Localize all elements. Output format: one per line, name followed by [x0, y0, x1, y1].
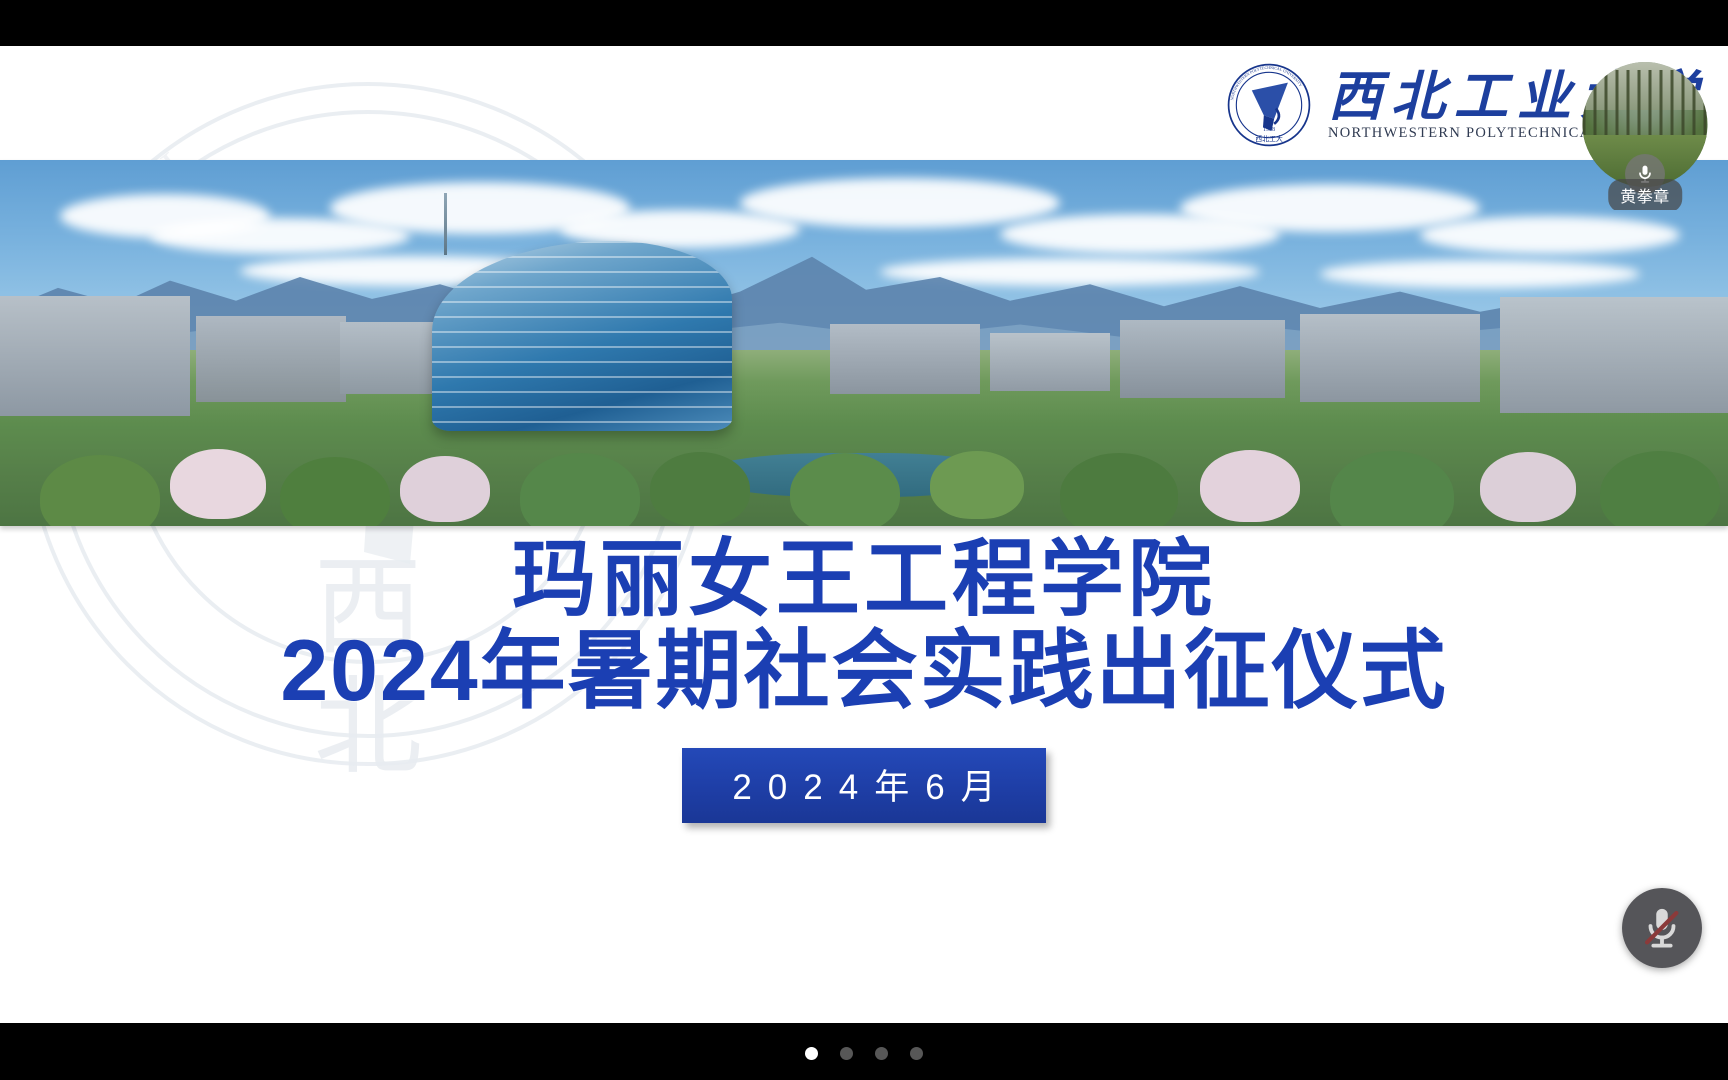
- blossom-tree: [1200, 450, 1300, 522]
- page-dot-4[interactable]: [910, 1047, 923, 1060]
- nwpu-seal-icon: 1938 西北工大 NORTHWESTERN POLYTECHNICAL UNI…: [1226, 62, 1312, 148]
- campus-building: [0, 296, 190, 416]
- date-badge: 2024年6月: [682, 748, 1045, 823]
- date-badge-container: 2024年6月: [0, 748, 1728, 823]
- campus-building: [990, 333, 1110, 391]
- blossom-tree: [400, 456, 490, 522]
- avatar-trees: [1583, 70, 1708, 145]
- campus-building: [1500, 297, 1728, 413]
- slide-header: 1938 西北工大 NORTHWESTERN POLYTECHNICAL UNI…: [0, 46, 1728, 160]
- shared-slide: 西 北 POLYTECH NON: [0, 46, 1728, 1023]
- slide-title-area: 玛丽女王工程学院 2024年暑期社会实践出征仪式 2024年6月: [0, 526, 1728, 823]
- mute-toggle-button[interactable]: [1622, 888, 1702, 968]
- svg-text:1938: 1938: [1263, 127, 1275, 133]
- participant-name-label: 黄拳章: [1608, 179, 1682, 210]
- campus-panorama-image: [0, 160, 1728, 526]
- campus-building: [196, 316, 346, 402]
- svg-text:西北工大: 西北工大: [1255, 134, 1283, 143]
- blossom-tree: [170, 449, 266, 519]
- page-dot-1[interactable]: [805, 1047, 818, 1060]
- meeting-screen: 西 北 POLYTECH NON: [0, 0, 1728, 1080]
- page-title-line-2: 2024年暑期社会实践出征仪式: [0, 625, 1728, 718]
- glass-landmark-building: [432, 241, 732, 431]
- page-dot-3[interactable]: [875, 1047, 888, 1060]
- microphone-muted-icon: [1639, 905, 1685, 951]
- tree: [930, 451, 1024, 519]
- tree: [790, 453, 900, 526]
- cloud: [740, 178, 1060, 228]
- blossom-tree: [1480, 452, 1576, 522]
- cloud: [1180, 184, 1480, 232]
- tree: [650, 452, 750, 526]
- page-dot-2[interactable]: [840, 1047, 853, 1060]
- letterbox-top: [0, 0, 1728, 46]
- campus-building: [830, 324, 980, 394]
- campus-building: [1300, 314, 1480, 402]
- page-indicator-dots: [0, 1047, 1728, 1060]
- campus-building: [1120, 320, 1285, 398]
- participant-video-tile[interactable]: 黄拳章: [1570, 60, 1720, 210]
- page-title-line-1: 玛丽女王工程学院: [0, 526, 1728, 625]
